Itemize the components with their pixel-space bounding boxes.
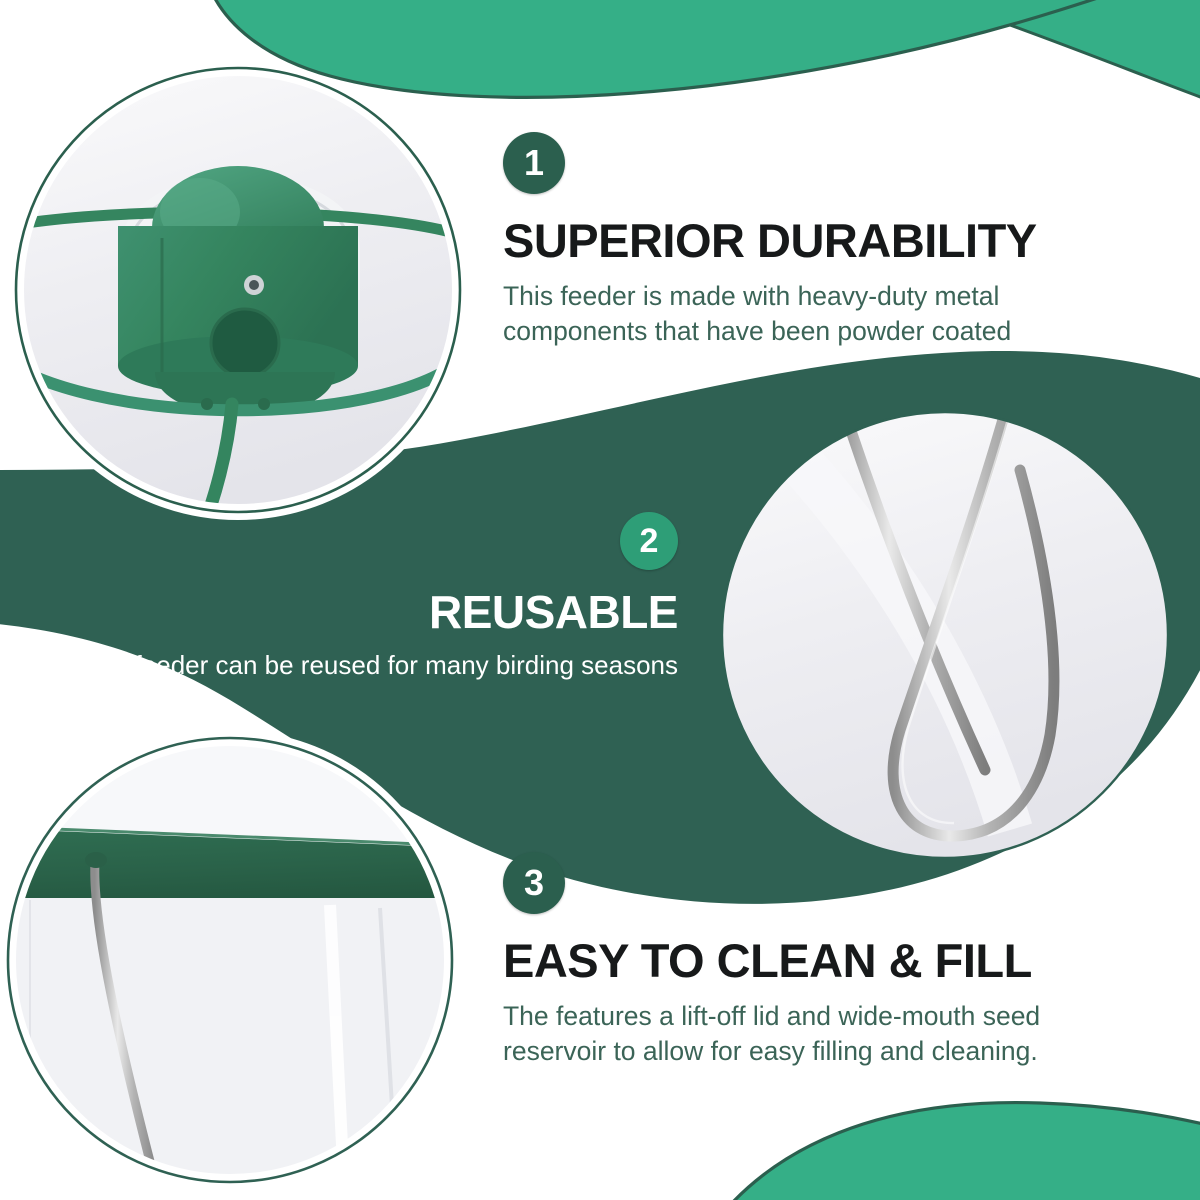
feature-2-description: the feeder can be reused for many birdin…: [0, 648, 678, 682]
feature-block-2: 2 REUSABLE the feeder can be reused for …: [0, 512, 678, 683]
feature-2-description-line-1: the feeder can be reused for many birdin…: [0, 648, 678, 682]
feature-2-title: REUSABLE: [0, 588, 678, 636]
feature-block-1: 1 SUPERIOR DURABILITY This feeder is mad…: [503, 132, 1037, 349]
feature-3-description-line-1: The features a lift-off lid and wide-mou…: [503, 999, 1040, 1034]
feature-2-badge: 2: [620, 512, 678, 570]
feature-3-description: The features a lift-off lid and wide-mou…: [503, 999, 1040, 1069]
feature-3-description-line-2: reservoir to allow for easy filling and …: [503, 1034, 1040, 1069]
feature-1-description: This feeder is made with heavy-duty meta…: [503, 279, 1037, 349]
feature-3-badge: 3: [503, 852, 565, 914]
infographic-canvas: 1 SUPERIOR DURABILITY This feeder is mad…: [0, 0, 1200, 1200]
bottom-emerald-blob: [690, 1103, 1200, 1200]
feature-1-title: SUPERIOR DURABILITY: [503, 216, 1037, 265]
feature-1-description-line-1: This feeder is made with heavy-duty meta…: [503, 279, 1037, 314]
feature-3-title: EASY TO CLEAN & FILL: [503, 936, 1040, 985]
feature-1-badge: 1: [503, 132, 565, 194]
feature-2-badge-wrap: 2: [0, 512, 678, 570]
feature-1-description-line-2: components that have been powder coated: [503, 314, 1037, 349]
top-emerald-blob-body: [201, 0, 1200, 97]
feature-block-3: 3 EASY TO CLEAN & FILL The features a li…: [503, 852, 1040, 1069]
